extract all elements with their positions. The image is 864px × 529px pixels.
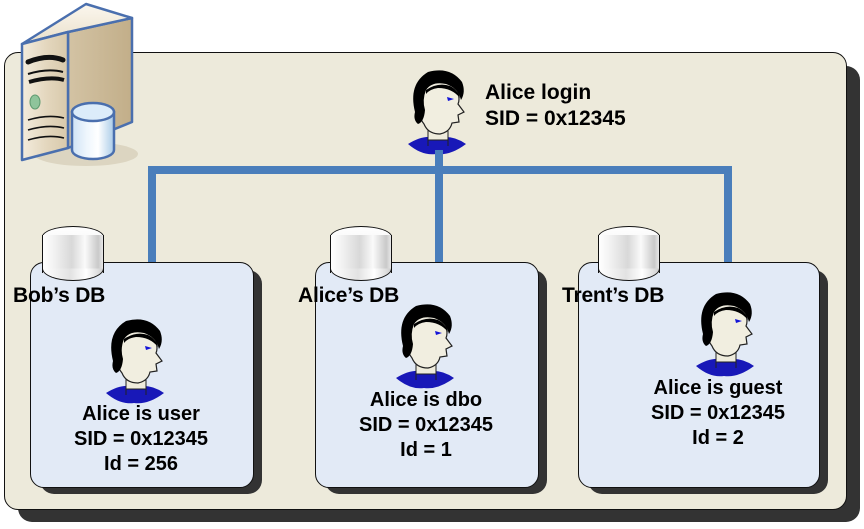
- db-text-trents: Alice is guest SID = 0x12345 Id = 2: [598, 376, 838, 451]
- database-cylinder-icon: [598, 226, 660, 282]
- server-tower-icon: [8, 2, 148, 172]
- db-label-bobs: Bob’s DB: [13, 284, 105, 308]
- alice-login-label: Alice login SID = 0x12345: [485, 80, 626, 132]
- database-cylinder-icon: [42, 226, 104, 282]
- db-text-bobs-line3: Id = 256: [30, 452, 252, 477]
- db-label-alices: Alice’s DB: [298, 284, 399, 308]
- diagram-canvas: Alice login SID = 0x12345 Bob’s DB Alice…: [0, 0, 864, 529]
- db-text-bobs-line1: Alice is user: [30, 402, 252, 427]
- db-text-alices-line3: Id = 1: [315, 438, 537, 463]
- db-text-trents-line2: SID = 0x12345: [598, 401, 838, 426]
- database-cylinder-icon: [330, 226, 392, 282]
- db-text-trents-line1: Alice is guest: [598, 376, 838, 401]
- db-text-bobs-line2: SID = 0x12345: [30, 427, 252, 452]
- db-text-alices-line1: Alice is dbo: [315, 388, 537, 413]
- alice-head-icon-bobs: [100, 315, 172, 407]
- db-label-trents: Trent’s DB: [562, 284, 664, 308]
- alice-login-line2: SID = 0x12345: [485, 106, 626, 132]
- alice-head-icon-alices: [390, 300, 462, 392]
- db-text-trents-line3: Id = 2: [598, 426, 838, 451]
- alice-login-head-icon: [402, 66, 474, 158]
- db-text-alices-line2: SID = 0x12345: [315, 413, 537, 438]
- connector-drop-right: [724, 166, 732, 268]
- db-text-alices: Alice is dbo SID = 0x12345 Id = 1: [315, 388, 537, 463]
- alice-login-line1: Alice login: [485, 80, 626, 106]
- alice-head-icon-trents: [690, 288, 762, 380]
- db-text-bobs: Alice is user SID = 0x12345 Id = 256: [30, 402, 252, 477]
